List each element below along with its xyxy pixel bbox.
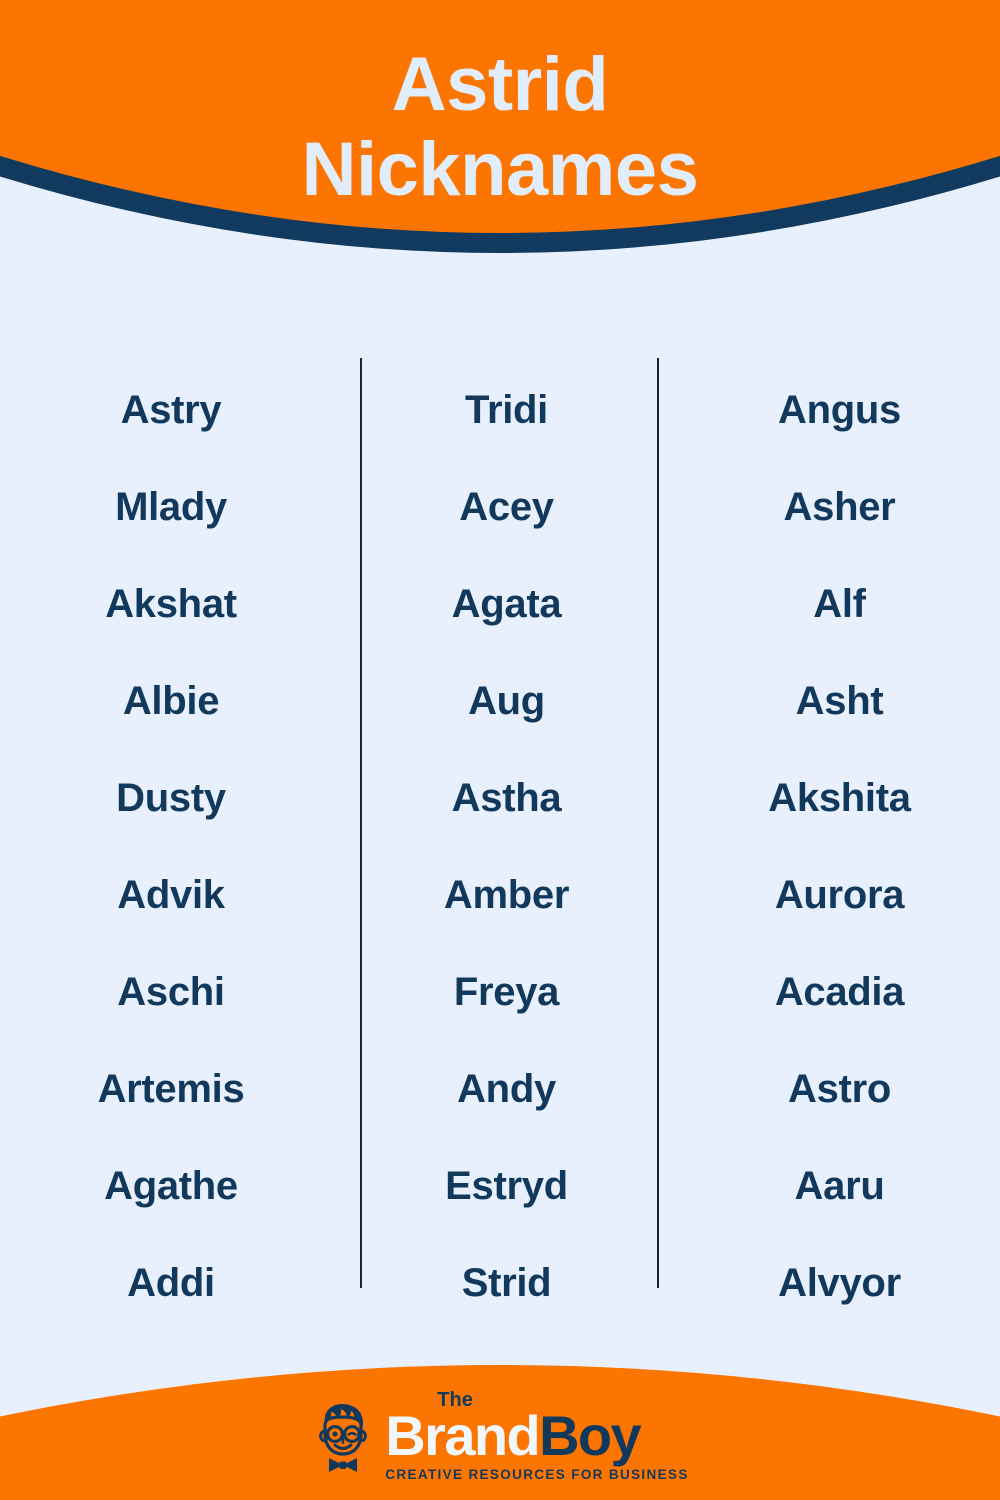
- nickname-column-1: Astry Mlady Akshat Albie Dusty Advik Asc…: [0, 352, 360, 1292]
- logo-wordmark: The BrandBoy CREATIVE RESOURCES FOR BUSI…: [385, 1394, 688, 1482]
- nickname-item: Mlady: [0, 459, 360, 556]
- nickname-item: Astha: [360, 750, 657, 847]
- nickname-item: Agathe: [0, 1138, 360, 1235]
- nickname-columns: Astry Mlady Akshat Albie Dusty Advik Asc…: [0, 352, 1000, 1292]
- nickname-item: Alf: [657, 556, 1000, 653]
- nickname-item: Asht: [657, 653, 1000, 750]
- nickname-item: Tridi: [360, 362, 657, 459]
- nickname-column-3: Angus Asher Alf Asht Akshita Aurora Acad…: [657, 352, 1000, 1292]
- nickname-item: Akshat: [0, 556, 360, 653]
- nickname-item: Aschi: [0, 944, 360, 1041]
- nickname-item: Astry: [0, 362, 360, 459]
- nickname-item: Asher: [657, 459, 1000, 556]
- boy-mascot-icon: [311, 1401, 375, 1475]
- nickname-item: Agata: [360, 556, 657, 653]
- nickname-item: Aug: [360, 653, 657, 750]
- nickname-item: Acey: [360, 459, 657, 556]
- nickname-list: Astry Mlady Akshat Albie Dusty Advik Asc…: [0, 352, 1000, 1292]
- nickname-item: Andy: [360, 1041, 657, 1138]
- nickname-column-2: Tridi Acey Agata Aug Astha Amber Freya A…: [360, 352, 657, 1292]
- nickname-item: Amber: [360, 847, 657, 944]
- nickname-item: Freya: [360, 944, 657, 1041]
- nickname-item: Advik: [0, 847, 360, 944]
- page-title-line-2: Nicknames: [0, 127, 1000, 212]
- logo-boy-text: Boy: [539, 1404, 640, 1467]
- logo-main-text: BrandBoy: [385, 1408, 688, 1464]
- nickname-item: Albie: [0, 653, 360, 750]
- logo-tagline: CREATIVE RESOURCES FOR BUSINESS: [385, 1467, 688, 1482]
- logo-the-text: The: [437, 1390, 473, 1410]
- nickname-item: Dusty: [0, 750, 360, 847]
- infographic-page: Astrid Nicknames Astry Mlady Akshat Albi…: [0, 0, 1000, 1500]
- logo-brand-text: Brand: [385, 1404, 539, 1467]
- nickname-item: Angus: [657, 362, 1000, 459]
- nickname-item: Acadia: [657, 944, 1000, 1041]
- nickname-item: Aaru: [657, 1138, 1000, 1235]
- nickname-item: Estryd: [360, 1138, 657, 1235]
- nickname-item: Astro: [657, 1041, 1000, 1138]
- nickname-item: Akshita: [657, 750, 1000, 847]
- brandboy-logo[interactable]: The BrandBoy CREATIVE RESOURCES FOR BUSI…: [0, 1394, 1000, 1482]
- page-title: Astrid Nicknames: [0, 42, 1000, 212]
- nickname-item: Aurora: [657, 847, 1000, 944]
- nickname-item: Artemis: [0, 1041, 360, 1138]
- page-title-line-1: Astrid: [0, 42, 1000, 127]
